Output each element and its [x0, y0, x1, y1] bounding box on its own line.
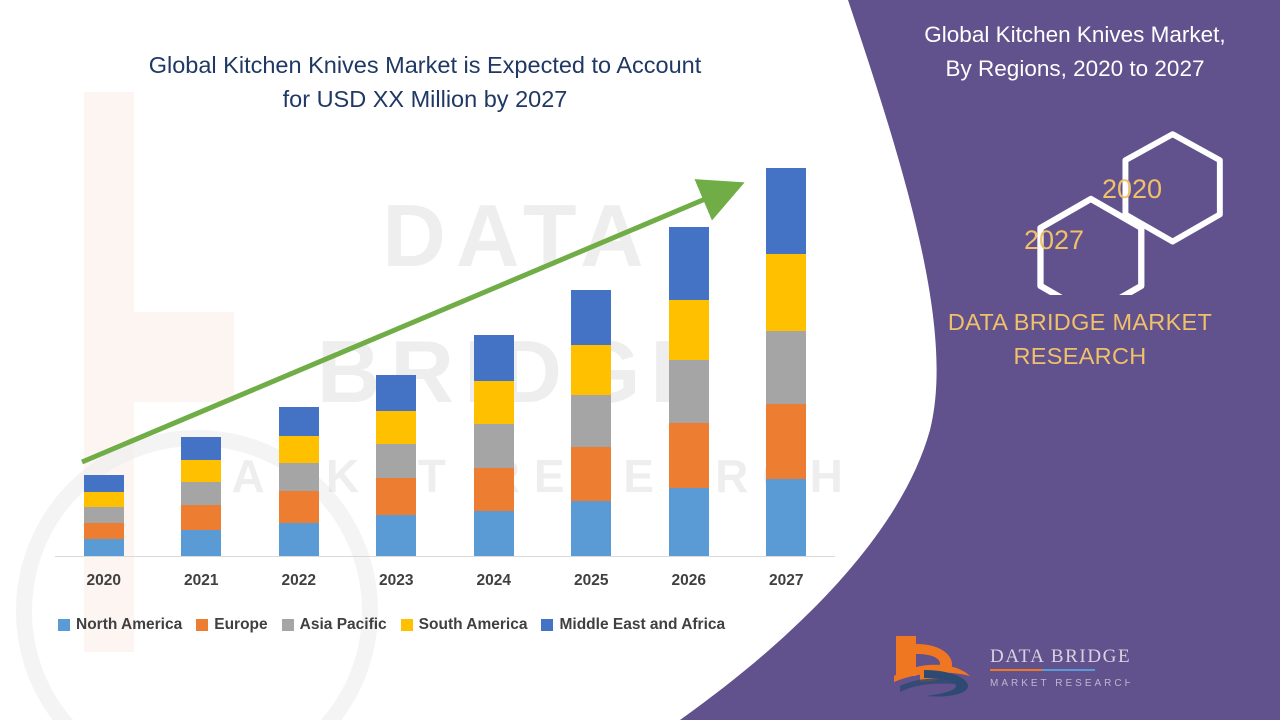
stacked-bar[interactable] [376, 375, 416, 556]
stacked-bar[interactable] [669, 227, 709, 556]
stacked-bar[interactable] [474, 335, 514, 556]
bar-segment[interactable] [376, 515, 416, 556]
bar-segment[interactable] [84, 475, 124, 492]
x-axis-tick-label: 2023 [348, 572, 446, 590]
x-axis-labels: 20202021202220232024202520262027 [55, 572, 835, 590]
bar-segment[interactable] [474, 511, 514, 556]
stacked-bar[interactable] [279, 407, 319, 556]
bar-segment[interactable] [181, 482, 221, 505]
bar-segment[interactable] [766, 404, 806, 479]
bar-segment[interactable] [571, 395, 611, 447]
bar-segment[interactable] [181, 505, 221, 530]
legend-item[interactable]: South America [401, 616, 528, 634]
bar-segment[interactable] [84, 492, 124, 508]
chart-panel: DATA BRIDGE MARKET RESEARCH Global Kitch… [0, 0, 900, 720]
legend-label: Asia Pacific [300, 616, 387, 634]
brand-line1: DATA BRIDGE MARKET [880, 305, 1280, 339]
bar-segment[interactable] [376, 375, 416, 411]
bar-segment[interactable] [669, 423, 709, 489]
bar-segment[interactable] [669, 360, 709, 422]
brand-name: DATA BRIDGE MARKET RESEARCH [880, 305, 1280, 373]
bar-segment[interactable] [474, 335, 514, 381]
bar-segment[interactable] [669, 227, 709, 300]
bar-segment[interactable] [571, 501, 611, 556]
bar-segment[interactable] [766, 331, 806, 404]
bar-segment[interactable] [474, 424, 514, 468]
bar-segment[interactable] [279, 463, 319, 491]
stacked-bar[interactable] [766, 168, 806, 556]
bar-segment[interactable] [84, 539, 124, 556]
bar-slot [640, 160, 738, 556]
stacked-bar-chart [55, 160, 835, 560]
chart-title-line2: for USD XX Million by 2027 [60, 82, 790, 116]
stacked-bar[interactable] [181, 437, 221, 556]
chart-legend: North AmericaEuropeAsia PacificSouth Ame… [58, 616, 848, 634]
bar-slot [445, 160, 543, 556]
stacked-bar[interactable] [84, 475, 124, 556]
bar-segment[interactable] [376, 478, 416, 515]
bar-segment[interactable] [376, 411, 416, 443]
legend-swatch [196, 619, 208, 631]
right-panel-title-line1: Global Kitchen Knives Market, [870, 18, 1280, 52]
x-axis-tick-label: 2021 [153, 572, 251, 590]
x-axis-tick-label: 2024 [445, 572, 543, 590]
bar-segment[interactable] [376, 444, 416, 478]
legend-swatch [282, 619, 294, 631]
bar-segment[interactable] [279, 407, 319, 436]
x-axis-tick-label: 2022 [250, 572, 348, 590]
bar-segment[interactable] [669, 300, 709, 360]
bar-segment[interactable] [766, 168, 806, 254]
plot-area [55, 160, 835, 557]
bar-slot [250, 160, 348, 556]
hexagon-2027-label: 2027 [1024, 225, 1084, 255]
logo-text-line2: MARKET RESEARCH [990, 678, 1130, 689]
legend-label: Europe [214, 616, 267, 634]
bar-segment[interactable] [571, 447, 611, 501]
x-axis-tick-label: 2025 [543, 572, 641, 590]
bar-segment[interactable] [84, 523, 124, 540]
bar-group [55, 160, 835, 556]
x-axis-line [55, 556, 835, 557]
hexagon-group: 2020 2027 [880, 130, 1280, 295]
right-panel-title-line2: By Regions, 2020 to 2027 [870, 52, 1280, 86]
company-logo: DATA BRIDGE MARKET RESEARCH [890, 630, 1130, 700]
bar-segment[interactable] [474, 468, 514, 512]
bar-segment[interactable] [279, 436, 319, 463]
legend-label: Middle East and Africa [559, 616, 725, 634]
chart-title: Global Kitchen Knives Market is Expected… [60, 48, 790, 116]
hexagon-2020-label: 2020 [1102, 174, 1162, 204]
bar-segment[interactable] [181, 437, 221, 460]
bar-segment[interactable] [474, 381, 514, 424]
bar-segment[interactable] [669, 488, 709, 556]
x-axis-tick-label: 2020 [55, 572, 153, 590]
bar-slot [55, 160, 153, 556]
legend-item[interactable]: Europe [196, 616, 267, 634]
bar-segment[interactable] [766, 479, 806, 556]
x-axis-tick-label: 2026 [640, 572, 738, 590]
chart-title-line1: Global Kitchen Knives Market is Expected… [60, 48, 790, 82]
legend-swatch [58, 619, 70, 631]
bar-slot [153, 160, 251, 556]
bar-slot [543, 160, 641, 556]
legend-label: North America [76, 616, 182, 634]
bar-slot [348, 160, 446, 556]
bar-segment[interactable] [84, 507, 124, 523]
right-panel: Global Kitchen Knives Market, By Regions… [880, 0, 1280, 720]
logo-text-line1: DATA BRIDGE [990, 646, 1130, 667]
slide-canvas: DATA BRIDGE MARKET RESEARCH Global Kitch… [0, 0, 1280, 720]
right-panel-title: Global Kitchen Knives Market, By Regions… [870, 18, 1280, 86]
legend-label: South America [419, 616, 528, 634]
legend-item[interactable]: Middle East and Africa [541, 616, 725, 634]
legend-swatch [401, 619, 413, 631]
bar-segment[interactable] [571, 290, 611, 345]
bar-segment[interactable] [279, 491, 319, 522]
stacked-bar[interactable] [571, 290, 611, 556]
bar-segment[interactable] [181, 530, 221, 556]
brand-line2: RESEARCH [880, 339, 1280, 373]
bar-segment[interactable] [571, 345, 611, 395]
legend-swatch [541, 619, 553, 631]
bar-segment[interactable] [181, 460, 221, 482]
bar-segment[interactable] [279, 523, 319, 556]
x-axis-tick-label: 2027 [738, 572, 836, 590]
bar-slot [738, 160, 836, 556]
bar-segment[interactable] [766, 254, 806, 331]
legend-item[interactable]: North America [58, 616, 182, 634]
legend-item[interactable]: Asia Pacific [282, 616, 387, 634]
